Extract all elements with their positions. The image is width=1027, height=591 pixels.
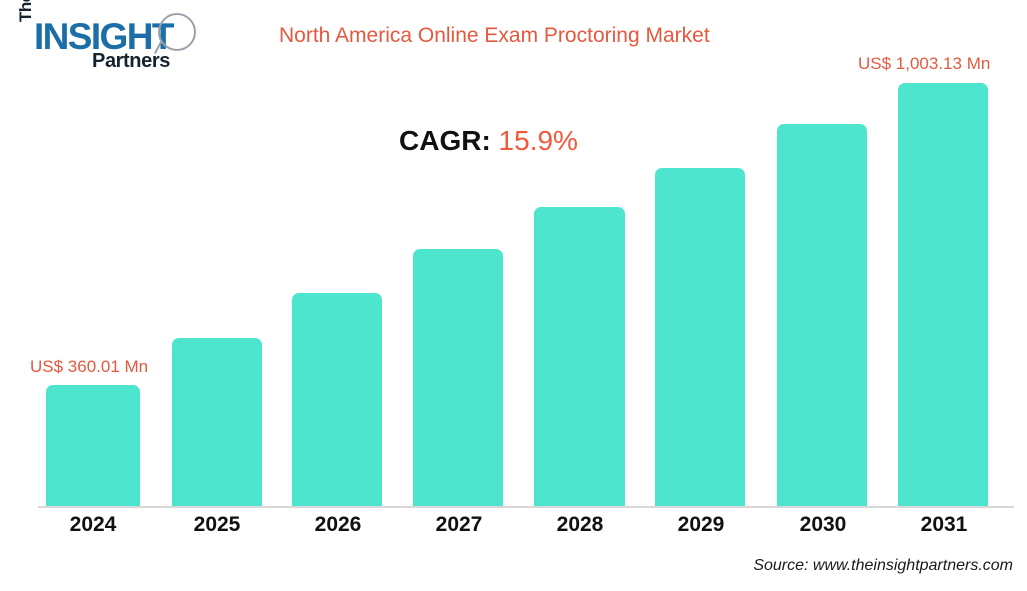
bar-2030 <box>777 124 867 506</box>
bar-2024 <box>46 385 140 506</box>
x-tick-2030: 2030 <box>763 513 883 537</box>
x-tick-2027: 2027 <box>399 513 519 537</box>
x-tick-2031: 2031 <box>884 513 1004 537</box>
source-caption: Source: www.theinsightpartners.com <box>753 557 1013 575</box>
plot-area: 20242025202620272028202920302031 US$ 360… <box>0 0 1027 591</box>
bar-2025 <box>172 338 262 506</box>
x-tick-2026: 2026 <box>278 513 398 537</box>
bar-2031 <box>898 83 988 506</box>
chart-page: The INSIGHT Partners North America Onlin… <box>0 0 1027 591</box>
x-tick-2029: 2029 <box>641 513 761 537</box>
bar-value-label-last: US$ 1,003.13 Mn <box>858 54 990 74</box>
x-axis-line <box>38 506 1014 508</box>
bar-2027 <box>413 249 503 506</box>
x-tick-2028: 2028 <box>520 513 640 537</box>
x-tick-2024: 2024 <box>33 513 153 537</box>
x-tick-2025: 2025 <box>157 513 277 537</box>
bar-value-label-first: US$ 360.01 Mn <box>30 357 148 377</box>
bar-2029 <box>655 168 745 506</box>
bar-2026 <box>292 293 382 506</box>
bar-2028 <box>534 207 625 506</box>
